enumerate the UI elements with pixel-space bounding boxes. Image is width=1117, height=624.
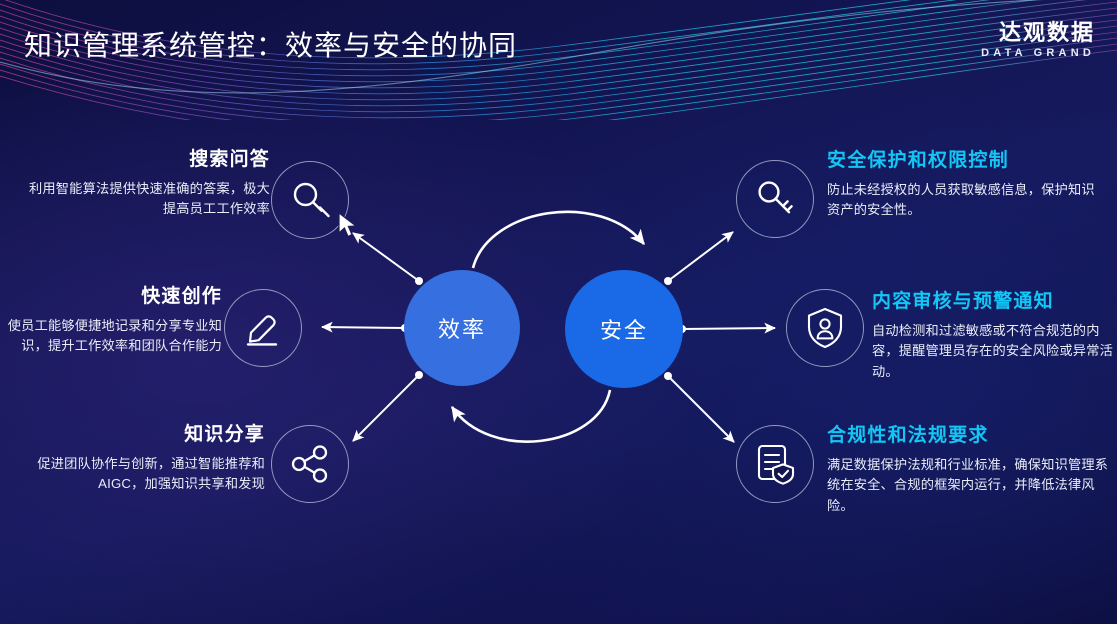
arc-top-efficiency-to-security: [473, 212, 644, 268]
hub-security-label: 安全: [600, 313, 648, 345]
node-icon-compliance[interactable]: [736, 425, 814, 503]
hub-efficiency-label: 效率: [438, 312, 486, 344]
item-search-text: 搜索问答 利用智能算法提供快速准确的答案，极大提高员工工作效率: [20, 144, 270, 220]
item-search-desc: 利用智能算法提供快速准确的答案，极大提高员工工作效率: [20, 179, 270, 220]
magnifier-cursor-icon: [287, 177, 333, 223]
item-compliance-text: 合规性和法规要求 满足数据保护法规和行业标准，确保知识管理系统在安全、合规的框架…: [827, 420, 1109, 516]
item-search-title: 搜索问答: [20, 144, 270, 171]
hub-efficiency[interactable]: 效率: [404, 270, 520, 386]
key-icon: [753, 177, 797, 221]
item-create-text: 快速创作 使员工能够便捷地记录和分享专业知识，提升工作效率和团队合作能力: [0, 281, 222, 357]
item-compliance-desc: 满足数据保护法规和行业标准，确保知识管理系统在安全、合规的框架内运行，并降低法律…: [827, 455, 1109, 516]
mouse-cursor-icon: [336, 211, 362, 241]
slide-canvas: 知识管理系统管控：效率与安全的协同 达观数据 DATA GRAND: [0, 0, 1117, 624]
item-share-text: 知识分享 促进团队协作与创新，通过智能推荐和AIGC，加强知识共享和发现: [10, 419, 265, 495]
item-compliance-title: 合规性和法规要求: [827, 420, 1109, 447]
arc-bottom-security-to-efficiency: [452, 390, 610, 442]
node-icon-audit[interactable]: [786, 289, 864, 367]
item-permission-desc: 防止未经授权的人员获取敏感信息，保护知识资产的安全性。: [827, 180, 1107, 221]
item-permission-title: 安全保护和权限控制: [827, 145, 1107, 172]
item-audit-title: 内容审核与预警通知: [872, 286, 1114, 313]
item-share-title: 知识分享: [10, 419, 265, 446]
item-share-desc: 促进团队协作与创新，通过智能推荐和AIGC，加强知识共享和发现: [10, 454, 265, 495]
share-nodes-icon: [289, 443, 331, 485]
item-create-title: 快速创作: [0, 281, 222, 308]
item-permission-text: 安全保护和权限控制 防止未经授权的人员获取敏感信息，保护知识资产的安全性。: [827, 145, 1107, 221]
item-create-desc: 使员工能够便捷地记录和分享专业知识，提升工作效率和团队合作能力: [0, 316, 222, 357]
node-icon-create[interactable]: [224, 289, 302, 367]
node-icon-share[interactable]: [271, 425, 349, 503]
hub-security[interactable]: 安全: [565, 270, 683, 388]
item-audit-desc: 自动检测和过滤敏感或不符合规范的内容，提醒管理员存在的安全风险或异常活动。: [872, 321, 1114, 382]
document-shield-check-icon: [753, 442, 797, 486]
node-icon-permission[interactable]: [736, 160, 814, 238]
pen-edit-icon: [242, 307, 284, 349]
item-audit-text: 内容审核与预警通知 自动检测和过滤敏感或不符合规范的内容，提醒管理员存在的安全风…: [872, 286, 1114, 382]
spoke-group-right: [668, 232, 775, 442]
shield-user-icon: [804, 306, 846, 350]
